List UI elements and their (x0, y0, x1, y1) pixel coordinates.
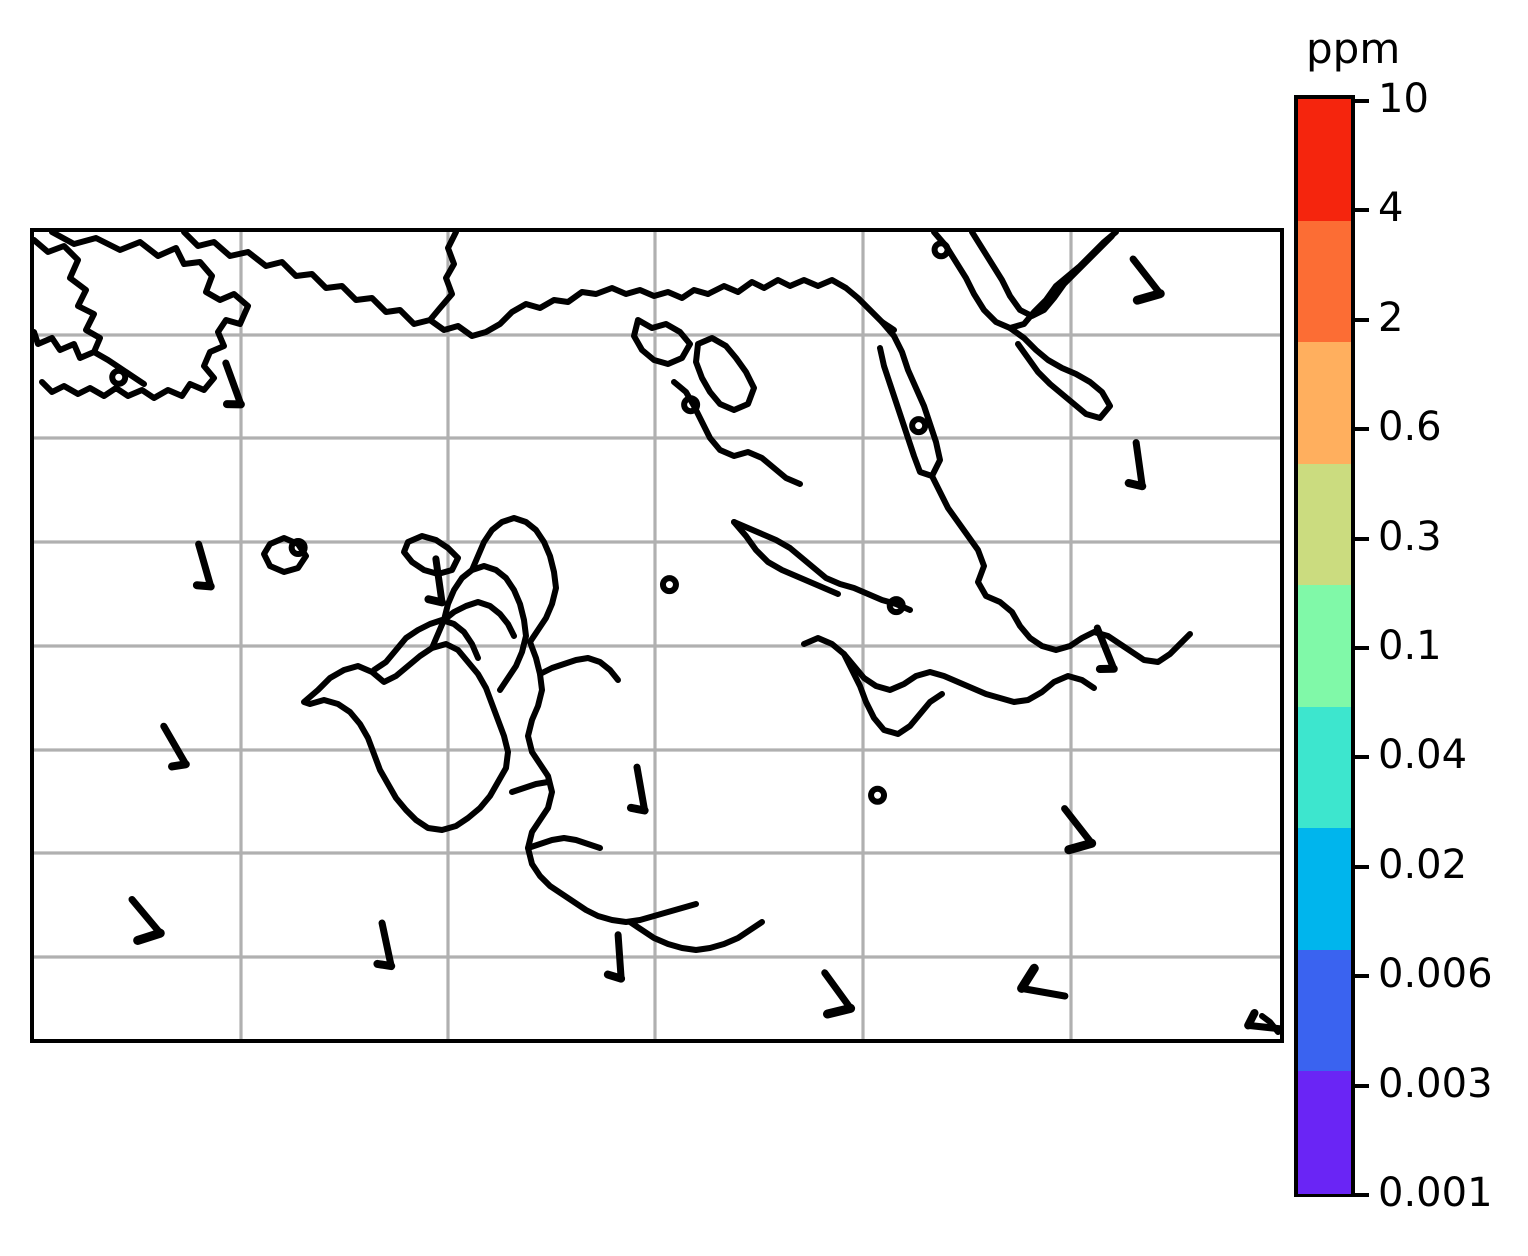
colorbar-band (1298, 1071, 1351, 1193)
wind-barb-shaft (1136, 443, 1142, 487)
wind-barb-shaft (382, 923, 391, 966)
colorbar-band (1298, 342, 1351, 464)
wind-barb (1123, 443, 1142, 488)
wind-barb (1022, 967, 1069, 996)
colorbar-tick-mark (1355, 974, 1369, 978)
colorbar-tick-mark (1355, 646, 1369, 650)
coastline-layer-australia (304, 518, 1278, 1032)
coastline-path (540, 658, 618, 680)
wind-barb-half (631, 806, 645, 813)
wind-barb (115, 899, 160, 947)
colorbar-tick-label: 4 (1378, 188, 1403, 228)
wind-barb (369, 923, 391, 969)
coastline-layer-islands (94, 232, 1190, 734)
coastline-path (304, 644, 508, 830)
colorbar-band (1298, 221, 1351, 343)
calm-wind-marker (912, 419, 925, 432)
wind-barb-shaft (1133, 259, 1160, 294)
colorbar-tick-label: 0.001 (1378, 1173, 1493, 1213)
colorbar-tick-label: 10 (1378, 79, 1429, 119)
colorbar-tick-mark (1355, 99, 1369, 103)
map-plot-area[interactable] (30, 228, 1284, 1043)
colorbar-tick-mark (1355, 1084, 1369, 1088)
colorbar-tick-label: 2 (1378, 298, 1403, 338)
coastline-path (472, 518, 556, 642)
calm-wind-marker (871, 789, 884, 802)
coastline-path (630, 922, 762, 950)
wind-barb-half (608, 974, 621, 980)
colorbar-band (1298, 828, 1351, 950)
coastline-path (430, 288, 708, 336)
wind-barb (1116, 259, 1160, 307)
colorbar-tick-mark (1355, 755, 1369, 759)
coastline-path (932, 476, 1190, 662)
wind-barb-full (1022, 967, 1035, 990)
colorbar-tick-mark (1355, 318, 1369, 322)
wind-barb-half (1129, 481, 1143, 488)
colorbar-tick-label: 0.04 (1378, 735, 1467, 775)
coastline-path (1010, 328, 1110, 418)
wind-barb-half (377, 961, 391, 969)
colorbar-band (1298, 950, 1351, 1072)
wind-barb (214, 363, 241, 409)
colorbar-tick-label: 0.6 (1378, 407, 1442, 447)
wind-barb-half (197, 582, 211, 590)
wind-barb-shaft (618, 935, 621, 979)
wind-barb-shaft (1248, 1025, 1280, 1030)
colorbar-unit-label: ppm (1306, 28, 1400, 70)
colorbar-band (1298, 707, 1351, 829)
coastline-path (528, 642, 696, 922)
figure-canvas: WRF-Tracer CO_IND sfc Init 2024-03-17 12… (0, 0, 1528, 1256)
colorbar-band (1298, 464, 1351, 586)
coastline-path (634, 320, 690, 364)
colorbar-band (1298, 99, 1351, 221)
colorbar-tick-label: 0.1 (1378, 626, 1442, 666)
wind-barb (807, 973, 851, 1022)
coastline-path (528, 838, 600, 848)
calm-wind-marker (935, 243, 948, 256)
coastline-path (512, 782, 548, 792)
colorbar-tick-label: 0.3 (1378, 517, 1442, 557)
coastline-path (444, 602, 514, 636)
wind-barb-shaft (1022, 988, 1065, 996)
calm-wind-marker (112, 371, 125, 384)
wind-barb (624, 767, 644, 813)
wind-barb-shaft (436, 559, 442, 603)
wind-barb-shaft (637, 767, 645, 810)
wind-barb (423, 559, 442, 604)
coastline-path (34, 240, 100, 358)
colorbar-tick-mark (1355, 865, 1369, 869)
colorbar-tick-mark (1355, 1193, 1369, 1197)
colorbar-tick-label: 0.02 (1378, 845, 1467, 885)
wind-barb-half (428, 597, 442, 604)
wind-barb-shaft (132, 899, 160, 933)
wind-barb-shaft (1065, 809, 1092, 844)
coastline-path (844, 654, 942, 734)
colorbar-tick-mark (1355, 208, 1369, 212)
coastline-path (734, 522, 838, 594)
map-svg (34, 232, 1280, 1039)
colorbar-tick-mark (1355, 537, 1369, 541)
coastline-layer (34, 232, 894, 398)
wind-barb-shaft (199, 544, 211, 586)
wind-barb-half (172, 760, 186, 771)
coastline-path (880, 322, 940, 476)
calm-wind-marker (663, 578, 676, 591)
wind-barb-half (1100, 664, 1114, 674)
colorbar-tick-label: 0.006 (1378, 954, 1493, 994)
coastline-path (184, 232, 456, 324)
wind-barb-shaft (164, 726, 186, 764)
colorbar[interactable] (1294, 95, 1355, 1197)
wind-barb-shaft (825, 973, 851, 1009)
coastline-path (734, 522, 910, 610)
wind-barb-shaft (226, 363, 241, 404)
coastline-path (708, 280, 894, 330)
colorbar-tick-mark (1355, 427, 1369, 431)
coastline-path (696, 338, 754, 410)
wind-barb (186, 544, 211, 590)
colorbar-tick-label: 0.003 (1378, 1064, 1493, 1104)
wind-barb-half (227, 400, 241, 409)
colorbar-band (1298, 585, 1351, 707)
